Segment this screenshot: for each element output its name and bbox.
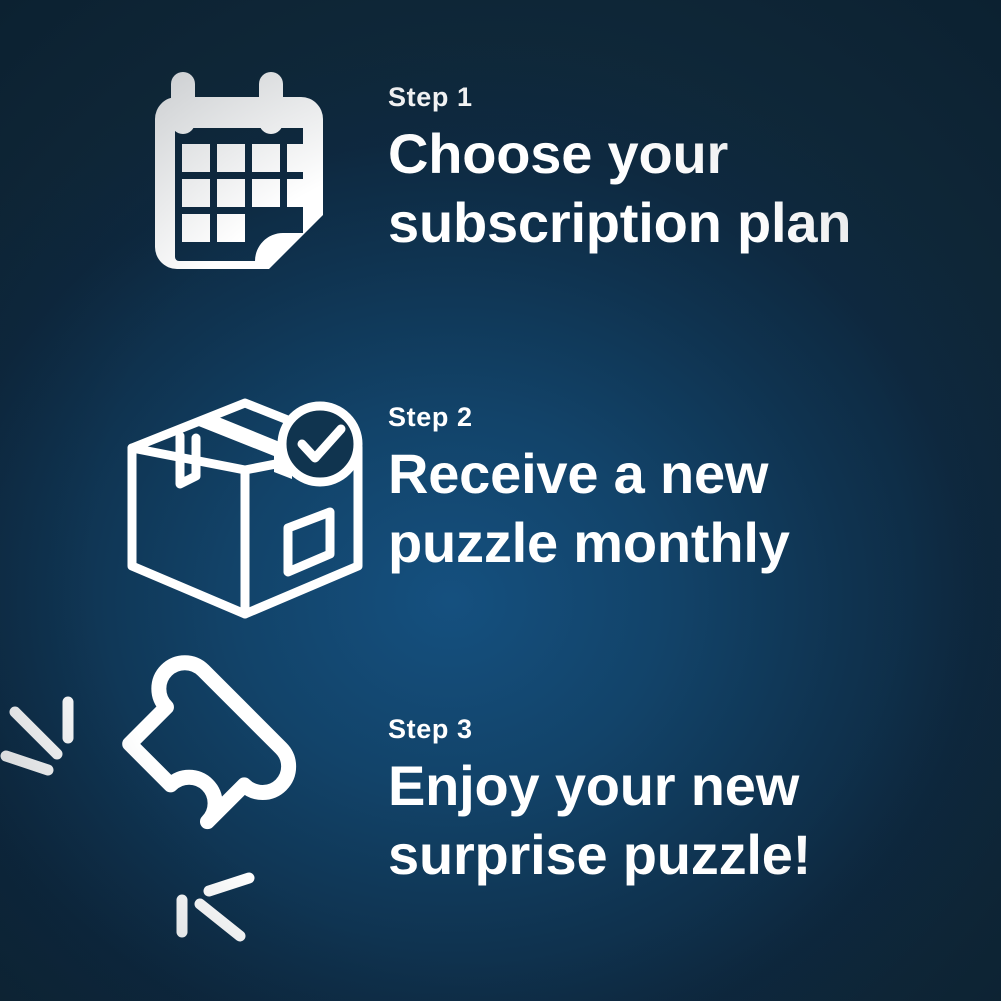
step-2-text-slot: Step 2 Receive a new puzzle monthly <box>388 376 1001 578</box>
step-2-label: Step 2 <box>388 404 1001 431</box>
step-1-title: Choose your subscription plan <box>388 119 928 258</box>
delivery-box-check-icon <box>0 376 388 626</box>
step-3-title: Enjoy your new surprise puzzle! <box>388 751 928 890</box>
puzzle-piece-sparkle-icon <box>0 688 388 953</box>
step-row-2: Step 2 Receive a new puzzle monthly <box>0 376 1001 626</box>
step-2-icon-slot <box>0 376 388 626</box>
sparkle-lines-top-left <box>6 702 68 770</box>
steps-graphic: Step 1 Choose your subscription plan <box>0 0 1001 1001</box>
sparkle-lines-bottom-right <box>182 878 249 936</box>
step-2-title: Receive a new puzzle monthly <box>388 439 928 578</box>
step-row-1: Step 1 Choose your subscription plan <box>0 58 1001 298</box>
step-1-icon-slot <box>0 58 388 298</box>
step-1-text-slot: Step 1 Choose your subscription plan <box>388 58 1001 258</box>
calendar-icon <box>0 58 388 298</box>
step-3-label: Step 3 <box>388 716 1001 743</box>
step-1-label: Step 1 <box>388 84 1001 111</box>
check-circle-badge <box>282 406 358 482</box>
step-3-icon-slot <box>0 688 388 953</box>
step-row-3: Step 3 Enjoy your new surprise puzzle! <box>0 688 1001 953</box>
step-3-text-slot: Step 3 Enjoy your new surprise puzzle! <box>388 688 1001 890</box>
